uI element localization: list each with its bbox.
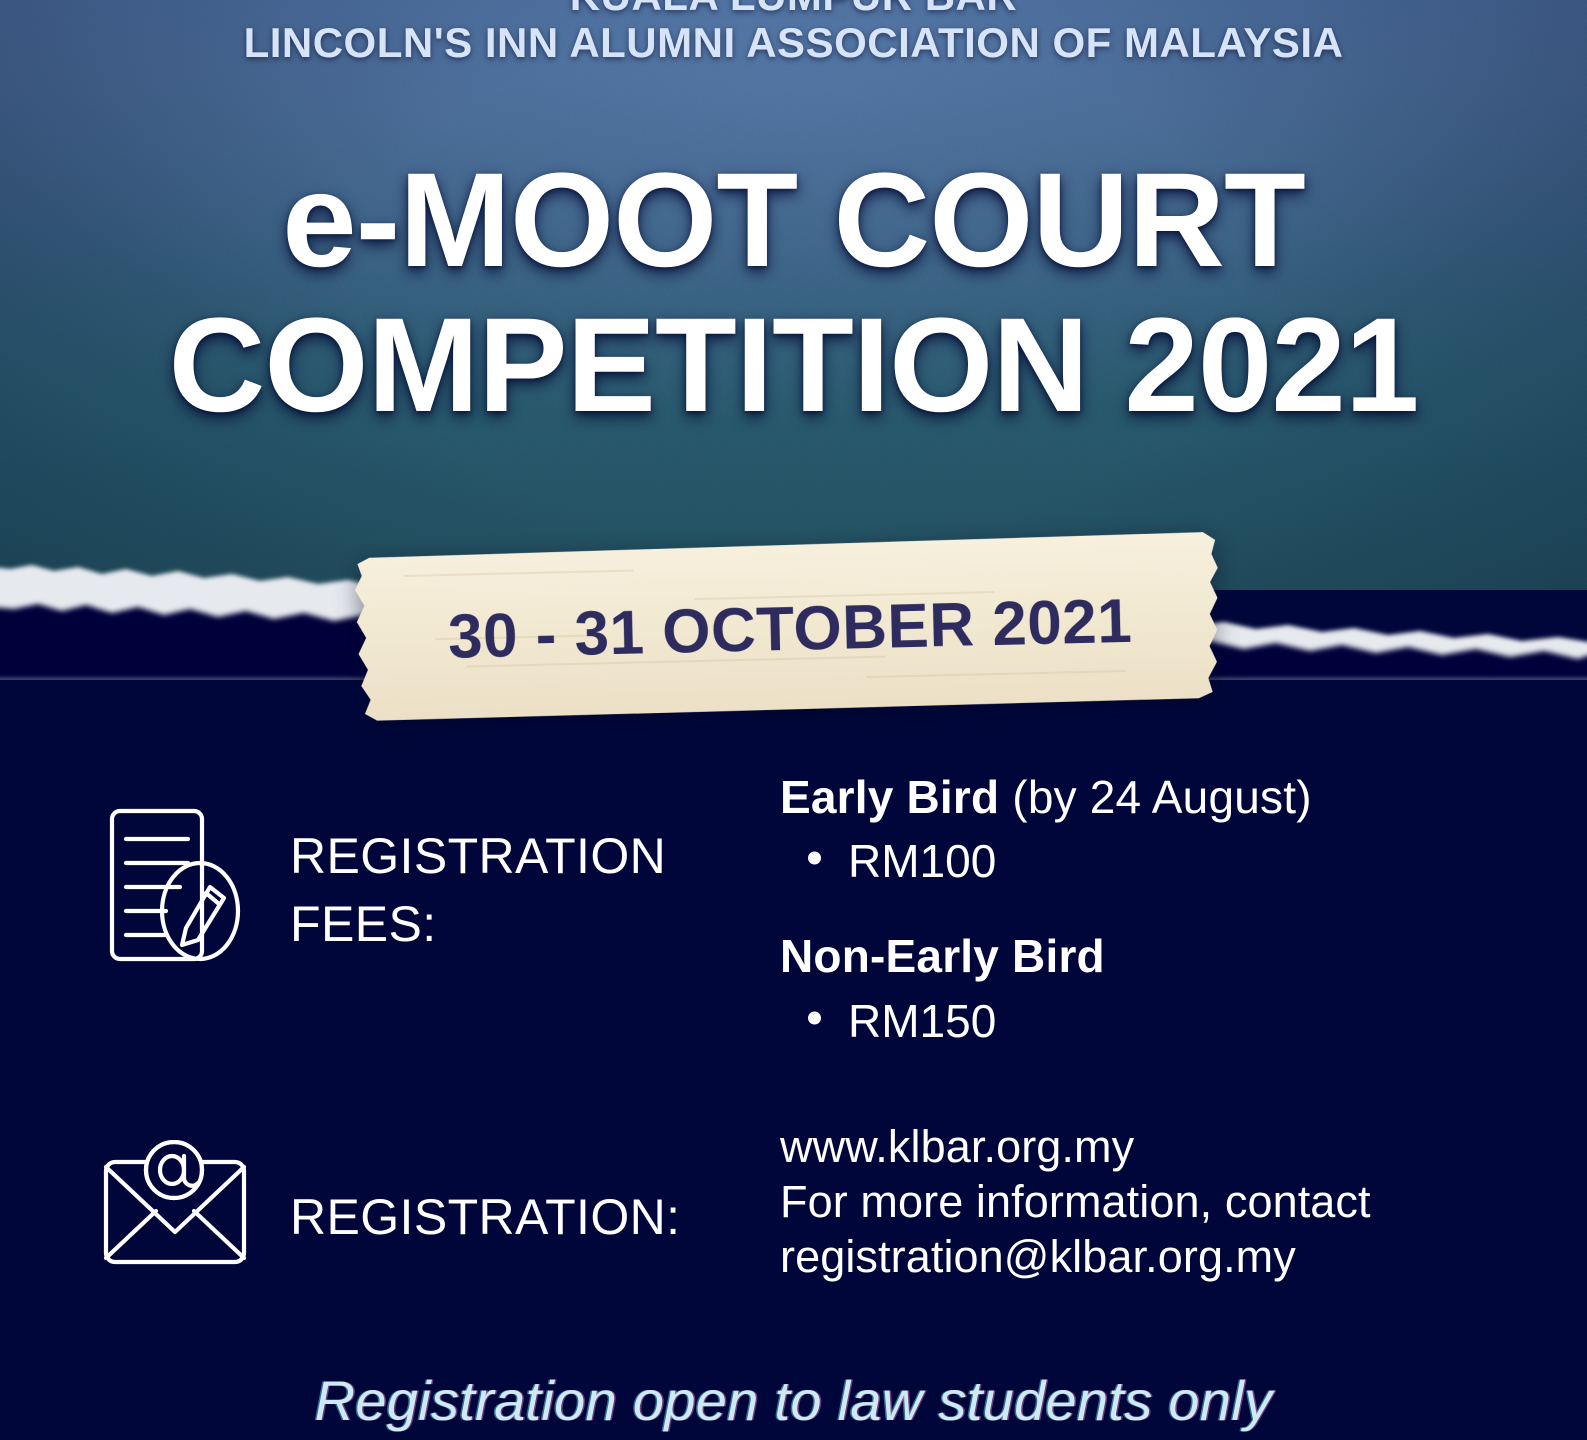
fee-group-non-early-bird: Non-Early Bird RM150 [780,929,1480,1048]
organisation-line-2: LINCOLN'S INN ALUMNI ASSOCIATION OF MALA… [0,19,1587,66]
fee-heading: Non-Early Bird [780,929,1480,983]
registration-row: REGISTRATION: [100,1140,680,1268]
fee-item: RM150 [780,994,1480,1049]
fee-heading-strong: Non-Early Bird [780,930,1105,982]
registration-fees-row: REGISTRATION FEES: [100,805,666,965]
event-title-line-2: COMPETITION 2021 [0,300,1587,431]
date-tape: 30 - 31 OCTOBER 2021 [343,528,1227,724]
bullet-icon [808,1011,821,1024]
envelope-at-icon [100,1140,290,1268]
organisation-header: KUALA LUMPUR BAR LINCOLN'S INN ALUMNI AS… [0,0,1587,66]
registration-label: REGISTRATION: [290,1140,680,1252]
fee-heading-light: (by 24 August) [1012,771,1311,823]
poster-root: KUALA LUMPUR BAR LINCOLN'S INN ALUMNI AS… [0,0,1587,1440]
bullet-icon [808,852,821,865]
fee-group-early-bird: Early Bird (by 24 August) RM100 [780,770,1480,889]
fee-heading-strong: Early Bird [780,771,1012,823]
fee-item: RM100 [780,834,1480,889]
fee-item-value: RM150 [848,995,996,1047]
registration-fees-details: Early Bird (by 24 August) RM100 Non-Earl… [780,770,1480,1049]
document-pencil-icon [100,805,290,965]
date-tape-text: 30 - 31 OCTOBER 2021 [343,528,1227,724]
fee-heading: Early Bird (by 24 August) [780,770,1480,824]
registration-details: www.klbar.org.my For more information, c… [780,1120,1500,1285]
registration-fees-label: REGISTRATION FEES: [290,805,666,958]
registration-website[interactable]: www.klbar.org.my [780,1120,1500,1175]
organisation-line-1: KUALA LUMPUR BAR [0,0,1587,19]
fee-item-value: RM100 [848,835,996,887]
eligibility-note: Registration open to law students only [0,1368,1587,1433]
registration-email[interactable]: registration@klbar.org.my [780,1230,1500,1285]
registration-info-text: For more information, contact [780,1175,1500,1230]
event-title-line-1: e-MOOT COURT [0,155,1587,286]
event-title: e-MOOT COURT COMPETITION 2021 [0,155,1587,432]
